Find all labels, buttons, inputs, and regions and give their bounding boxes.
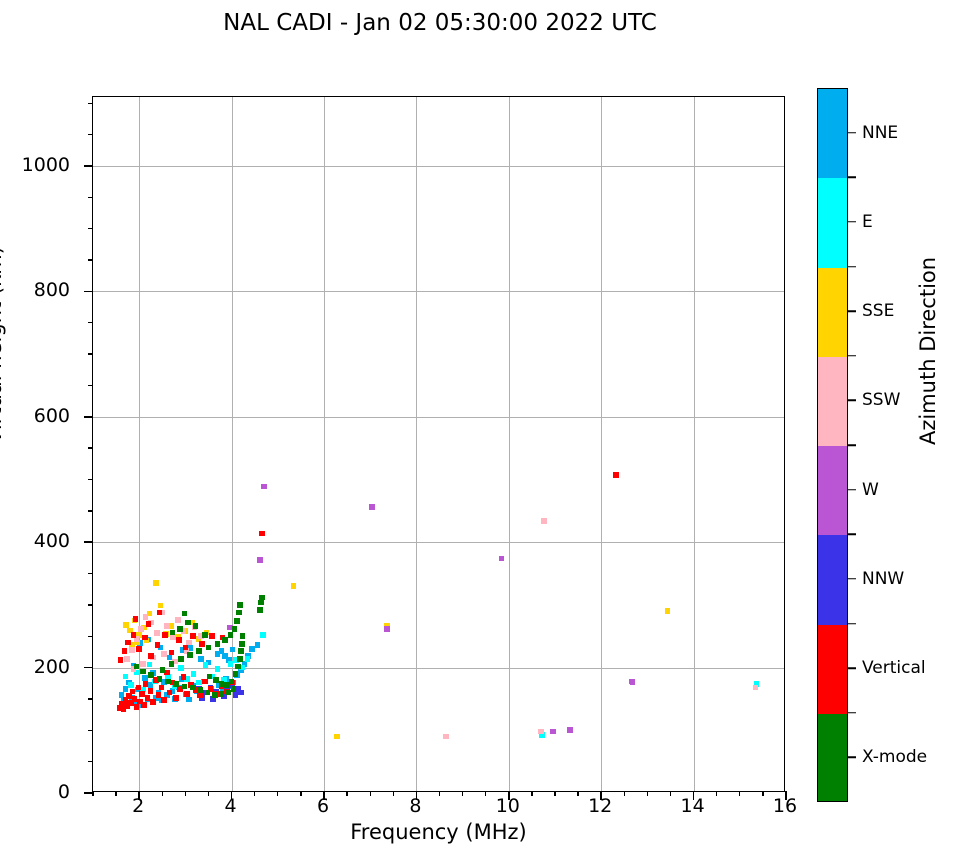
data-point: [173, 681, 179, 687]
data-point: [164, 623, 170, 629]
y-axis-minor-tick: [88, 447, 93, 448]
data-point: [257, 607, 263, 613]
data-point: [237, 602, 243, 608]
data-point: [190, 633, 196, 639]
data-point: [183, 645, 189, 651]
data-point: [384, 626, 390, 632]
data-point: [176, 637, 182, 643]
data-point: [240, 633, 246, 639]
x-axis-tick-label: 16: [773, 795, 797, 817]
y-axis-tick-label: 600: [34, 405, 70, 427]
colorbar-boundary-tick: [848, 534, 856, 536]
data-point: [162, 632, 168, 638]
colorbar-tick: [848, 400, 856, 402]
y-axis-minor-tick: [88, 510, 93, 511]
data-point: [190, 685, 196, 691]
data-point: [118, 657, 124, 663]
data-point: [129, 647, 135, 653]
data-point: [225, 690, 231, 696]
data-point: [219, 691, 225, 697]
colorbar-boundary-tick: [848, 712, 856, 714]
data-point: [169, 661, 175, 667]
colorbar-boundary-tick: [848, 444, 856, 446]
colorbar-label-vertical: Vertical: [862, 658, 926, 678]
y-axis-minor-tick: [88, 730, 93, 731]
data-point: [198, 656, 204, 662]
data-point: [550, 729, 556, 735]
data-point: [499, 556, 505, 562]
colorbar-segment-vertical: [818, 625, 847, 714]
data-point: [215, 641, 221, 647]
data-point: [124, 656, 130, 662]
y-axis-tick-label: 1000: [22, 154, 70, 176]
data-point: [291, 583, 297, 589]
y-axis-minor-tick: [88, 636, 93, 637]
data-point: [753, 685, 759, 691]
data-point: [231, 686, 237, 692]
data-point: [215, 666, 221, 672]
data-point: [170, 630, 176, 636]
colorbar-segment-w: [818, 446, 847, 535]
data-point: [234, 618, 240, 624]
data-point: [193, 623, 199, 629]
y-axis-tick-label: 0: [58, 781, 70, 803]
data-point: [230, 647, 236, 653]
page-title: NAL CADI - Jan 02 05:30:00 2022 UTC: [0, 10, 880, 36]
data-point: [184, 691, 190, 697]
data-point: [207, 674, 213, 680]
colorbar-boundary-tick: [848, 623, 856, 625]
colorbar-boundary-tick: [848, 177, 856, 179]
data-point: [157, 610, 163, 616]
data-point: [167, 690, 173, 696]
data-point: [157, 676, 163, 682]
data-point: [131, 632, 137, 638]
data-point: [128, 682, 134, 688]
data-point: [199, 641, 205, 647]
data-point: [160, 667, 166, 673]
data-point: [177, 626, 183, 632]
y-axis-minor-tick: [88, 761, 93, 762]
data-point: [238, 648, 244, 654]
data-point: [143, 681, 149, 687]
data-point: [169, 650, 175, 656]
colorbar-labels: NNEESSESSWWNNWVerticalX-mode: [848, 88, 948, 802]
data-point: [261, 484, 267, 490]
y-axis-tick-label: 400: [34, 530, 70, 552]
data-point: [222, 637, 228, 643]
x-axis-tick-label: 2: [132, 795, 144, 817]
colorbar-segment-x-mode: [818, 714, 847, 802]
y-axis-minor-tick: [88, 197, 93, 198]
colorbar-label-nnw: NNW: [862, 569, 904, 589]
colorbar-segment-ssw: [818, 357, 847, 446]
data-point: [229, 679, 235, 685]
data-point: [134, 704, 140, 710]
x-axis-tick-label: 6: [317, 795, 329, 817]
data-point: [235, 664, 241, 670]
data-point: [136, 685, 142, 691]
data-point: [136, 646, 142, 652]
data-point: [150, 699, 156, 705]
data-point: [205, 690, 211, 696]
x-axis-tick-label: 14: [681, 795, 705, 817]
data-point: [138, 626, 144, 632]
data-point: [133, 616, 139, 622]
y-axis-tick-label: 800: [34, 279, 70, 301]
y-axis-minor-tick: [88, 259, 93, 260]
colorbar-title: Azimuth Direction: [916, 257, 940, 445]
colorbar-boundary-tick: [848, 355, 856, 357]
data-point: [148, 672, 154, 678]
data-point: [237, 656, 243, 662]
y-axis-minor-tick: [88, 103, 93, 104]
data-point: [123, 674, 129, 680]
data-point: [369, 504, 375, 510]
data-point: [228, 632, 234, 638]
data-point: [158, 603, 164, 609]
y-axis-tick: [84, 541, 93, 543]
y-axis-minor-tick: [88, 604, 93, 605]
colorbar-boundary-tick: [848, 266, 856, 268]
x-axis-tick-label: 8: [409, 795, 421, 817]
x-axis-title: Frequency (MHz): [92, 820, 785, 844]
colorbar-tick: [848, 757, 856, 759]
data-points-layer: [93, 97, 784, 791]
y-axis-tick-labels: 02004006008001000: [0, 96, 82, 792]
data-point: [613, 472, 619, 478]
y-axis-minor-tick: [88, 322, 93, 323]
data-point: [257, 557, 263, 563]
colorbar-label-x-mode: X-mode: [862, 747, 927, 767]
data-point: [197, 692, 203, 698]
data-point: [142, 635, 148, 641]
data-point: [196, 648, 202, 654]
colorbar: [817, 88, 848, 802]
data-point: [203, 662, 209, 668]
data-point: [154, 630, 160, 636]
data-point: [259, 595, 265, 601]
data-point: [255, 642, 261, 648]
colorbar-tick: [848, 667, 856, 669]
colorbar-tick: [848, 310, 856, 312]
data-point: [125, 640, 131, 646]
data-point: [182, 684, 188, 690]
data-point: [148, 688, 154, 694]
y-axis-minor-tick: [88, 698, 93, 699]
data-point: [159, 685, 165, 691]
y-axis-minor-tick: [88, 228, 93, 229]
data-point: [629, 679, 635, 685]
data-point: [165, 679, 171, 685]
data-point: [185, 620, 191, 626]
colorbar-label-sse: SSE: [862, 301, 894, 321]
y-axis-tick: [84, 165, 93, 167]
data-point: [665, 608, 671, 614]
colorbar-tick: [848, 578, 856, 580]
data-point: [178, 656, 184, 662]
colorbar-segment-sse: [818, 268, 847, 357]
data-point: [146, 621, 152, 627]
data-point: [182, 611, 188, 617]
data-point: [202, 632, 208, 638]
data-point: [238, 690, 244, 696]
data-point: [202, 679, 208, 685]
data-point: [141, 702, 147, 708]
data-point: [148, 653, 154, 659]
data-point: [147, 662, 153, 668]
colorbar-label-w: W: [862, 480, 879, 500]
data-point: [260, 632, 266, 638]
data-point: [245, 656, 251, 662]
colorbar-tick: [848, 489, 856, 491]
data-point: [140, 661, 146, 667]
data-point: [233, 671, 239, 677]
y-axis-title: Virtual height (km): [0, 246, 6, 444]
data-point: [186, 697, 192, 703]
data-point: [191, 671, 197, 677]
x-axis-tick-label: 12: [588, 795, 612, 817]
y-axis-minor-tick: [88, 573, 93, 574]
y-axis-tick-label: 200: [34, 656, 70, 678]
colorbar-tick: [848, 221, 856, 223]
data-point: [161, 651, 167, 657]
ionogram-figure: NAL CADI - Jan 02 05:30:00 2022 UTC 0200…: [0, 0, 958, 857]
y-axis-tick: [84, 416, 93, 418]
data-point: [567, 727, 573, 733]
colorbar-segment-nne: [818, 89, 847, 178]
plot-area: [92, 96, 785, 792]
data-point: [258, 600, 264, 606]
data-point: [206, 645, 212, 651]
y-axis-tick: [84, 291, 93, 293]
colorbar-tick: [848, 132, 856, 134]
colorbar-label-nne: NNE: [862, 123, 898, 143]
data-point: [122, 648, 128, 654]
y-axis-minor-tick: [88, 479, 93, 480]
data-point: [187, 652, 193, 658]
data-point: [153, 580, 159, 586]
y-axis-minor-tick: [88, 134, 93, 135]
data-point: [181, 674, 187, 680]
data-point: [161, 697, 167, 703]
data-point: [155, 642, 161, 648]
data-point: [334, 734, 340, 740]
y-axis-minor-tick: [88, 385, 93, 386]
data-point: [175, 617, 181, 623]
data-point: [236, 610, 242, 616]
colorbar-segment-nnw: [818, 535, 847, 624]
data-point: [197, 687, 203, 693]
x-axis-tick-label: 10: [496, 795, 520, 817]
data-point: [173, 695, 179, 701]
data-point: [538, 729, 544, 735]
data-point: [541, 518, 547, 524]
colorbar-label-ssw: SSW: [862, 390, 900, 410]
x-axis-tick-label: 4: [225, 795, 237, 817]
data-point: [209, 633, 215, 639]
y-axis-minor-tick: [88, 353, 93, 354]
data-point: [134, 664, 140, 670]
y-axis-tick: [84, 667, 93, 669]
data-point: [239, 641, 245, 647]
colorbar-segment-e: [818, 178, 847, 267]
data-point: [259, 531, 265, 537]
data-point: [140, 669, 146, 675]
data-point: [178, 665, 184, 671]
colorbar-label-e: E: [862, 212, 873, 232]
data-point: [443, 734, 449, 740]
data-point: [170, 635, 176, 641]
data-point: [212, 692, 218, 698]
data-point: [232, 626, 238, 632]
